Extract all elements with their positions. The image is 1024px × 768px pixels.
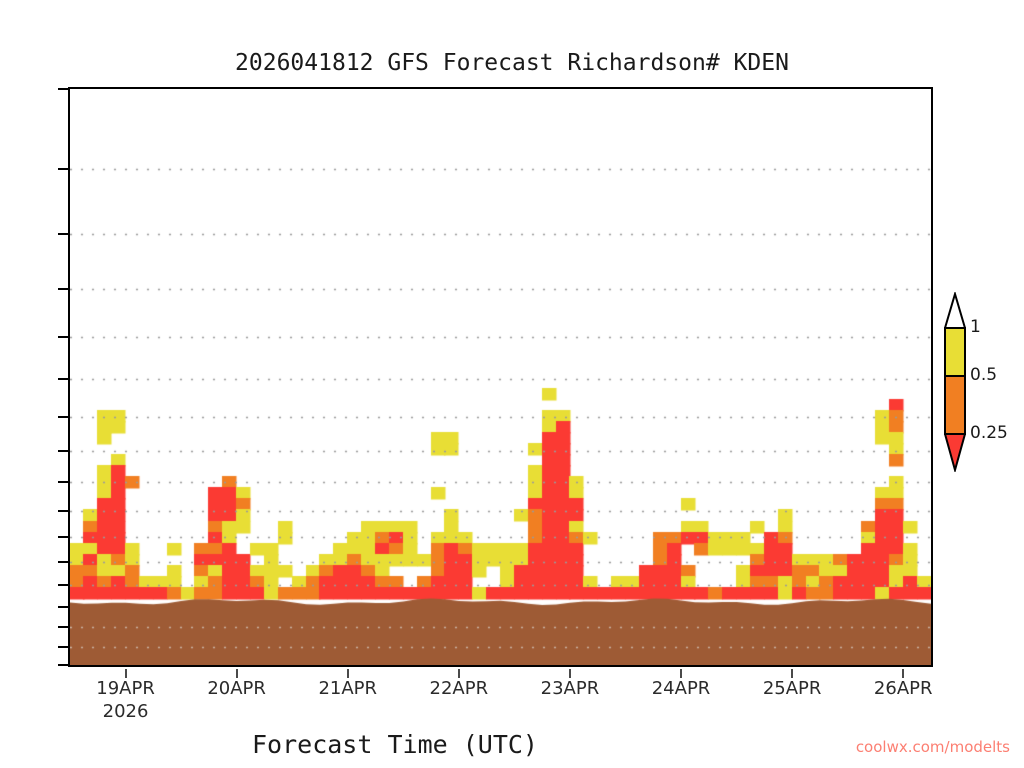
colorbar-tick-label: 0.25 [970, 423, 1008, 443]
x-tick-mark [902, 669, 904, 678]
y-tick-mark [58, 288, 68, 290]
y-tick-mark [58, 606, 68, 608]
y-tick-mark [58, 584, 68, 586]
x-tick-mark [236, 669, 238, 678]
colorbar-band-yellow [945, 328, 965, 376]
y-tick-mark [58, 450, 68, 452]
x-tick-label: 21APR [318, 678, 377, 699]
page-title: 2026041812 GFS Forecast Richardson# KDEN [0, 50, 1024, 76]
y-tick-mark [58, 233, 68, 235]
y-tick-mark [58, 646, 68, 648]
colorbar-below-arrow [945, 434, 965, 470]
colorbar-tick-label: 1 [970, 317, 981, 337]
y-tick-mark [58, 378, 68, 380]
x-tick-label: 22APR [430, 678, 489, 699]
x-tick-mark [458, 669, 460, 678]
x-tick-label: 19APR [96, 678, 155, 699]
y-tick-mark [58, 416, 68, 418]
x-tick-label: 20APR [207, 678, 266, 699]
colorbar [944, 292, 966, 472]
x-tick-label: 24APR [652, 678, 711, 699]
plot-area [68, 87, 933, 667]
chart-canvas: 2026041812 GFS Forecast Richardson# KDEN… [0, 0, 1024, 768]
y-tick-mark [58, 510, 68, 512]
x-tick-mark [125, 669, 127, 678]
colorbar-band-orange [945, 376, 965, 434]
x-year-label: 2026 [103, 701, 149, 722]
watermark: coolwx.com/modelts [856, 738, 1010, 756]
x-tick-mark [791, 669, 793, 678]
y-tick-mark [58, 561, 68, 563]
x-tick-label: 23APR [541, 678, 600, 699]
richardson-heatmap [70, 89, 931, 665]
y-tick-mark [58, 626, 68, 628]
colorbar-above-arrow [945, 294, 965, 328]
x-tick-label: 25APR [763, 678, 822, 699]
y-tick-mark [58, 336, 68, 338]
y-tick-mark [58, 536, 68, 538]
y-tick-mark [58, 168, 68, 170]
x-tick-mark [347, 669, 349, 678]
x-axis-title: Forecast Time (UTC) [0, 730, 790, 759]
y-tick-mark [58, 664, 68, 666]
x-tick-label: 26APR [874, 678, 933, 699]
colorbar-tick-label: 0.5 [970, 365, 997, 385]
x-tick-mark [680, 669, 682, 678]
y-tick-mark [58, 88, 68, 90]
y-tick-mark [58, 481, 68, 483]
x-tick-mark [569, 669, 571, 678]
